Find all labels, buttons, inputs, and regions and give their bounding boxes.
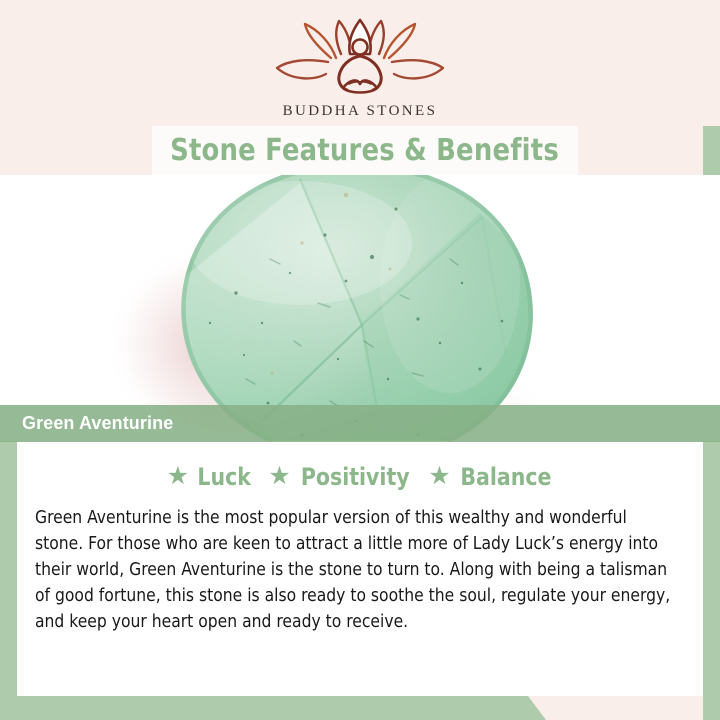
star-icon: ★	[428, 464, 450, 489]
star-icon: ★	[268, 464, 290, 489]
lotus-meditation-icon	[0, 18, 720, 100]
brand-logo: BUDDHA STONES	[0, 18, 720, 120]
page-title: Stone Features & Benefits	[171, 133, 560, 168]
card-header: BUDDHA STONES	[0, 0, 720, 126]
benefits-list: ★ Luck ★ Positivity ★ Balance	[17, 463, 703, 491]
stone-name-label: Green Aventurine	[22, 413, 173, 434]
stone-description: Green Aventurine is the most popular ver…	[35, 505, 675, 635]
product-info-card: BUDDHA STONES Stone Features & Benefits	[0, 0, 720, 720]
benefit-label: Positivity	[301, 463, 410, 491]
card-body: ★ Luck ★ Positivity ★ Balance Green Aven…	[17, 441, 703, 696]
brand-name: BUDDHA STONES	[0, 103, 720, 120]
benefit-label: Balance	[460, 463, 551, 491]
star-icon: ★	[167, 464, 189, 489]
benefit-item: ★ Balance	[428, 463, 553, 491]
green-aventurine-stone-image	[150, 175, 554, 441]
frame-accent-bottom	[0, 696, 720, 720]
benefit-item: ★ Positivity	[268, 463, 412, 491]
benefit-item: ★ Luck	[167, 463, 253, 491]
section-title-banner: Stone Features & Benefits	[152, 126, 578, 175]
stone-name-banner: Green Aventurine	[0, 405, 720, 442]
benefit-label: Luck	[197, 463, 250, 491]
product-photo	[0, 175, 720, 441]
